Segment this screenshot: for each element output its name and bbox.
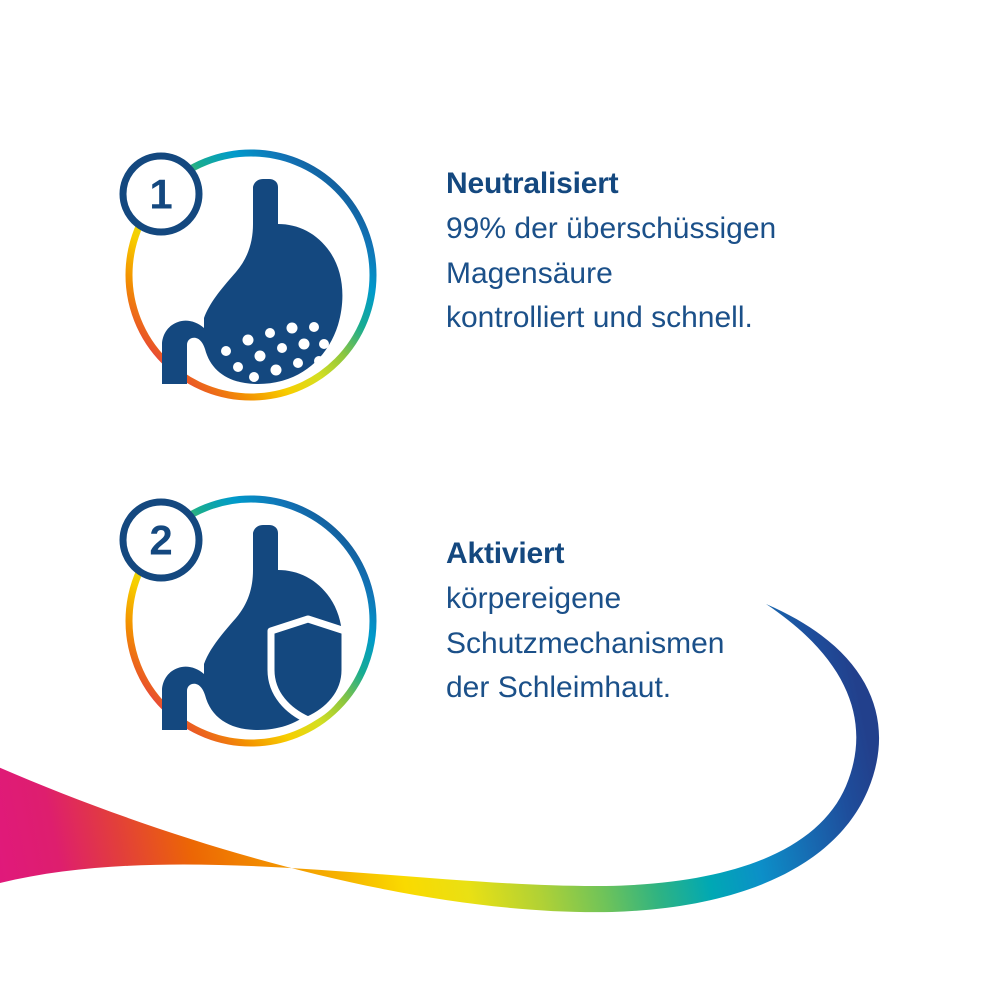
benefit-text-2: Aktiviert körpereigene Schutzmechanismen… <box>446 478 724 711</box>
benefit-body-line: kontrolliert und schnell. <box>446 296 776 340</box>
benefit-body-line: der Schleimhaut. <box>446 666 724 710</box>
benefit-icon-2: 2 <box>108 478 394 764</box>
stomach-with-acid-bubbles-icon: 1 <box>108 132 394 418</box>
benefit-body-2: körpereigene Schutzmechanismen der Schle… <box>446 577 724 710</box>
benefit-icon-1: 1 <box>108 132 394 418</box>
benefit-text-1: Neutralisiert 99% der überschüssigen Mag… <box>446 132 776 341</box>
benefit-body-line: Magensäure <box>446 252 776 296</box>
benefit-body-line: Schutzmechanismen <box>446 622 724 666</box>
benefit-body-line: körpereigene <box>446 577 724 621</box>
infographic-canvas: 1 Neutralisiert 99% der überschüssigen M… <box>0 0 1000 1000</box>
benefit-body-1: 99% der überschüssigen Magensäure kontro… <box>446 207 776 340</box>
stomach-with-shield-icon: 2 <box>108 478 394 764</box>
benefit-body-line: 99% der überschüssigen <box>446 207 776 251</box>
step-number-2: 2 <box>149 517 172 564</box>
benefit-item-2: 2 Aktiviert körpereigene Schutzmechanism… <box>108 478 724 764</box>
benefit-heading-2: Aktiviert <box>446 536 724 571</box>
step-number-1: 1 <box>149 171 172 218</box>
benefit-item-1: 1 Neutralisiert 99% der überschüssigen M… <box>108 132 776 418</box>
shield-icon <box>271 619 345 720</box>
benefit-heading-1: Neutralisiert <box>446 166 776 201</box>
